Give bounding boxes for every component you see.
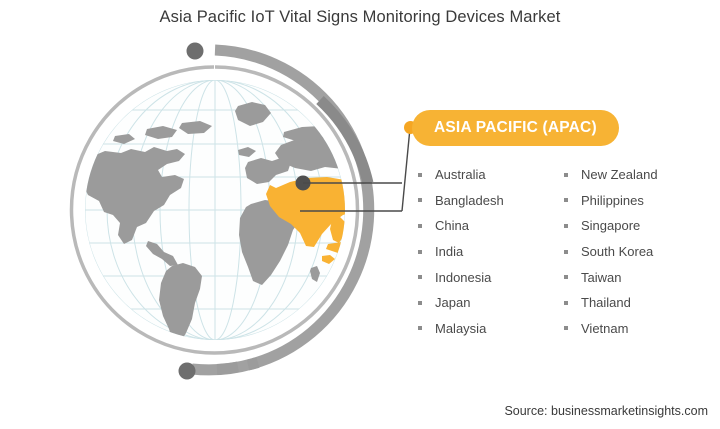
list-item[interactable]: Malaysia bbox=[418, 316, 564, 342]
bullet-icon bbox=[418, 198, 422, 202]
list-item[interactable]: China bbox=[418, 213, 564, 239]
bullet-icon bbox=[564, 198, 568, 202]
bullet-icon bbox=[418, 224, 422, 228]
bullet-icon bbox=[564, 224, 568, 228]
ring-dot-bottom bbox=[179, 363, 196, 380]
bullet-icon bbox=[418, 250, 422, 254]
source-attribution: Source: businessmarketinsights.com bbox=[504, 404, 708, 418]
list-item[interactable]: Bangladesh bbox=[418, 188, 564, 214]
region-callout: ASIA PACIFIC (APAC) Australia Bangladesh… bbox=[396, 104, 712, 354]
bullet-icon bbox=[418, 326, 422, 330]
bullet-icon bbox=[564, 301, 568, 305]
list-item[interactable]: India bbox=[418, 239, 564, 265]
list-item[interactable]: South Korea bbox=[564, 239, 710, 265]
list-item[interactable]: Singapore bbox=[564, 213, 710, 239]
list-item[interactable]: Thailand bbox=[564, 290, 710, 316]
bullet-icon bbox=[418, 301, 422, 305]
bullet-icon bbox=[564, 250, 568, 254]
list-item[interactable]: Japan bbox=[418, 290, 564, 316]
list-item[interactable]: Taiwan bbox=[564, 264, 710, 290]
bullet-icon bbox=[564, 326, 568, 330]
list-item[interactable]: Australia bbox=[418, 162, 564, 188]
country-column-left: Australia Bangladesh China India Indones… bbox=[418, 162, 564, 341]
bullet-icon bbox=[418, 173, 422, 177]
list-item[interactable]: Philippines bbox=[564, 188, 710, 214]
bullet-icon bbox=[564, 173, 568, 177]
list-item[interactable]: Vietnam bbox=[564, 316, 710, 342]
globe-illustration bbox=[52, 28, 402, 388]
infographic-canvas: Asia Pacific IoT Vital Signs Monitoring … bbox=[0, 0, 720, 429]
ring-dot-top bbox=[187, 43, 204, 60]
list-item[interactable]: New Zealand bbox=[564, 162, 710, 188]
list-item[interactable]: Indonesia bbox=[418, 264, 564, 290]
country-columns: Australia Bangladesh China India Indones… bbox=[418, 162, 710, 341]
bullet-icon bbox=[418, 275, 422, 279]
bullet-icon bbox=[564, 275, 568, 279]
page-title: Asia Pacific IoT Vital Signs Monitoring … bbox=[0, 8, 720, 27]
region-badge[interactable]: ASIA PACIFIC (APAC) bbox=[412, 110, 619, 146]
country-column-right: New Zealand Philippines Singapore South … bbox=[564, 162, 710, 341]
